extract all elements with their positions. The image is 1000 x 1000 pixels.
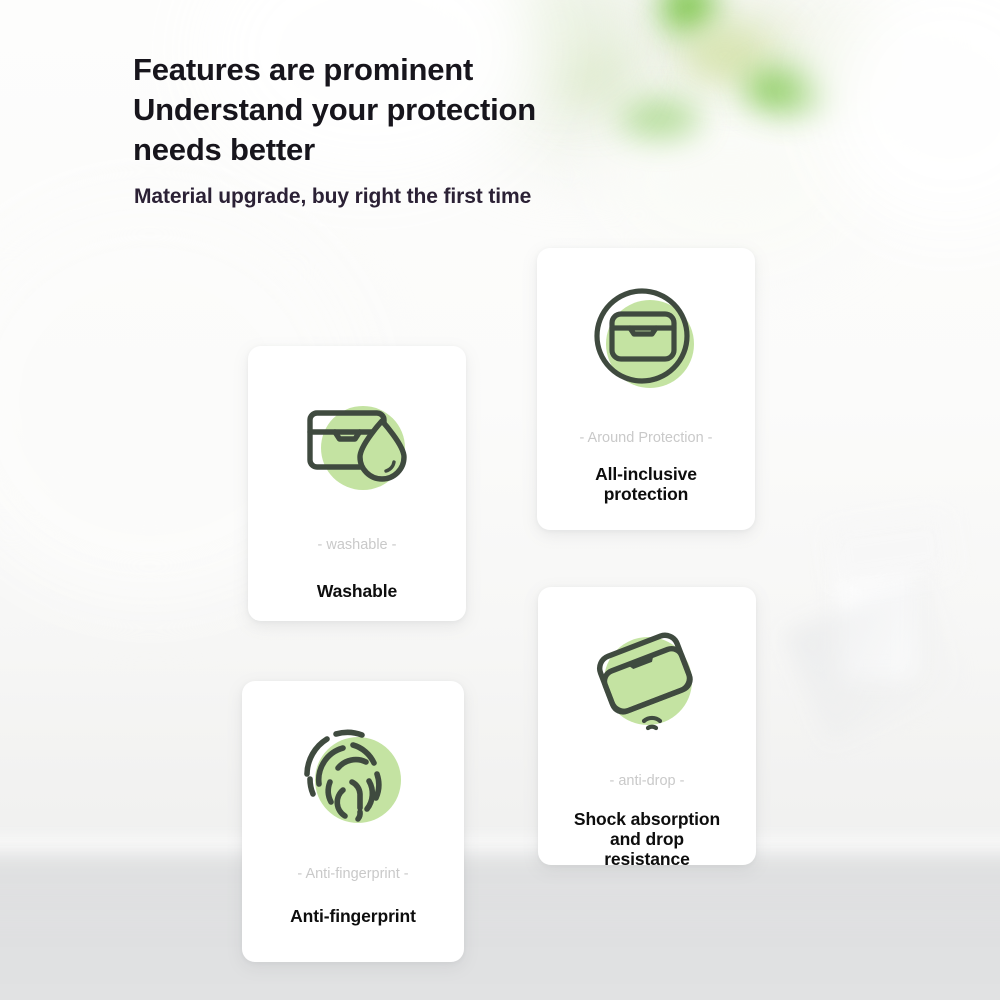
card-kicker: - Anti-fingerprint - [297, 867, 408, 882]
card-kicker: - washable - [318, 538, 397, 553]
feature-card-anti-drop[interactable]: - anti-drop - Shock absorption and drop … [538, 587, 756, 865]
card-title: Anti-fingerprint [290, 906, 416, 926]
tilted-case-impact-icon [588, 625, 706, 742]
card-title-line: protection [604, 484, 689, 504]
feature-card-anti-fingerprint[interactable]: - Anti-fingerprint - Anti-fingerprint [242, 681, 464, 962]
card-title-line: resistance [604, 849, 690, 869]
table-surface [0, 845, 1000, 1000]
page-subheadline: Material upgrade, buy right the first ti… [134, 185, 531, 209]
case-with-water-drop-icon [298, 393, 416, 502]
card-title-line: Washable [317, 581, 397, 601]
card-title-line: Anti-fingerprint [290, 906, 416, 926]
card-kicker: - anti-drop - [610, 774, 685, 789]
card-title-line: and drop [610, 829, 684, 849]
headline-line-2: Understand your protection [133, 90, 753, 130]
card-title: Washable [317, 581, 397, 601]
case-in-circle-icon [590, 284, 702, 401]
feature-poster: Features are prominent Understand your p… [0, 0, 1000, 1000]
card-title: All-inclusive protection [595, 464, 697, 504]
headline-line-1: Features are prominent [133, 50, 753, 90]
fingerprint-icon [300, 726, 406, 835]
card-title: Shock absorption and drop resistance [574, 809, 720, 869]
card-title-line: Shock absorption [574, 809, 720, 829]
card-kicker: - Around Protection - [580, 431, 713, 446]
page-headline: Features are prominent Understand your p… [133, 50, 753, 170]
headline-line-3: needs better [133, 130, 753, 170]
card-title-line: All-inclusive [595, 464, 697, 484]
feature-card-around-protection[interactable]: - Around Protection - All-inclusive prot… [537, 248, 755, 530]
feature-card-washable[interactable]: - washable - Washable [248, 346, 466, 621]
